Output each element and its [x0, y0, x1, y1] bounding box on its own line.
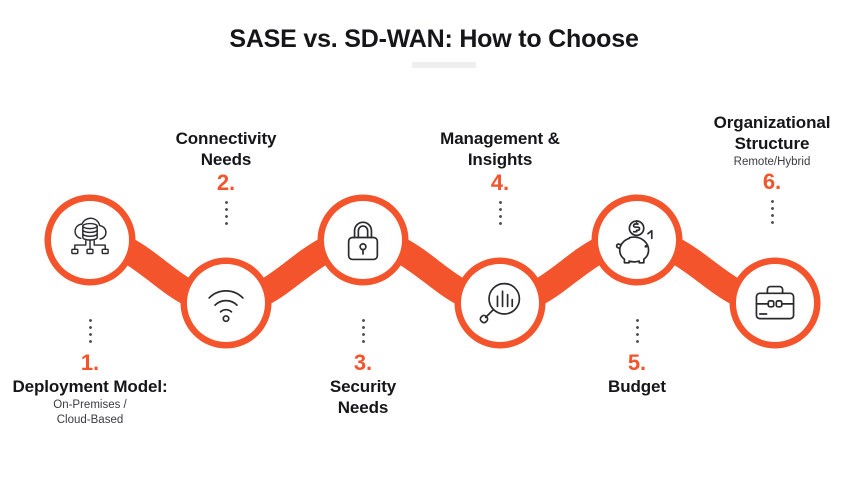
- dotted-connector-2: [225, 201, 228, 227]
- step-number-3: 3.: [268, 350, 458, 376]
- step-label-1: 1. Deployment Model: On-Premises / Cloud…: [0, 315, 185, 427]
- step-number-4: 4.: [405, 170, 595, 196]
- piggy-bank-icon: [610, 213, 664, 267]
- magnifier-chart-icon: [473, 276, 527, 330]
- step-label-6: Organizational Structure Remote/Hybrid 6…: [677, 112, 867, 230]
- dotted-connector-3: [362, 319, 365, 345]
- step-label-2: Connectivity Needs 2.: [131, 128, 321, 231]
- step-heading-6-line2: Structure: [677, 133, 867, 154]
- step-label-3: 3. Security Needs: [268, 315, 458, 418]
- step-number-5: 5.: [542, 350, 732, 376]
- step-label-5: 5. Budget: [542, 315, 732, 397]
- step-heading-1-line1: Deployment Model:: [0, 376, 185, 397]
- padlock-icon: [336, 213, 390, 267]
- dotted-connector-1: [89, 319, 92, 345]
- step-heading-3-line2: Needs: [268, 397, 458, 418]
- dotted-connector-5: [636, 319, 639, 345]
- step-heading-4-line1: Management &: [405, 128, 595, 149]
- page-title: SASE vs. SD-WAN: How to Choose: [0, 22, 868, 56]
- step-heading-6-line1: Organizational: [677, 112, 867, 133]
- step-heading-5-line1: Budget: [542, 376, 732, 397]
- step-number-6: 6.: [677, 169, 867, 195]
- title-divider: [412, 62, 476, 68]
- step-heading-3-line1: Security: [268, 376, 458, 397]
- step-sub-1-line2: Cloud-Based: [0, 413, 185, 427]
- step-sub-1-line1: On-Premises /: [0, 398, 185, 412]
- dotted-connector-6: [771, 200, 774, 226]
- cloud-database-icon: [63, 213, 117, 267]
- step-sub-6: Remote/Hybrid: [677, 155, 867, 169]
- step-heading-4-line2: Insights: [405, 149, 595, 170]
- step-heading-2-line2: Needs: [131, 149, 321, 170]
- step-number-2: 2.: [131, 170, 321, 196]
- step-heading-2-line1: Connectivity: [131, 128, 321, 149]
- infographic-page: SASE vs. SD-WAN: How to Choose: [0, 0, 868, 488]
- step-number-1: 1.: [0, 350, 185, 376]
- dotted-connector-4: [499, 201, 502, 227]
- briefcase-icon: [748, 276, 802, 330]
- step-label-4: Management & Insights 4.: [405, 128, 595, 231]
- wifi-icon: [199, 276, 253, 330]
